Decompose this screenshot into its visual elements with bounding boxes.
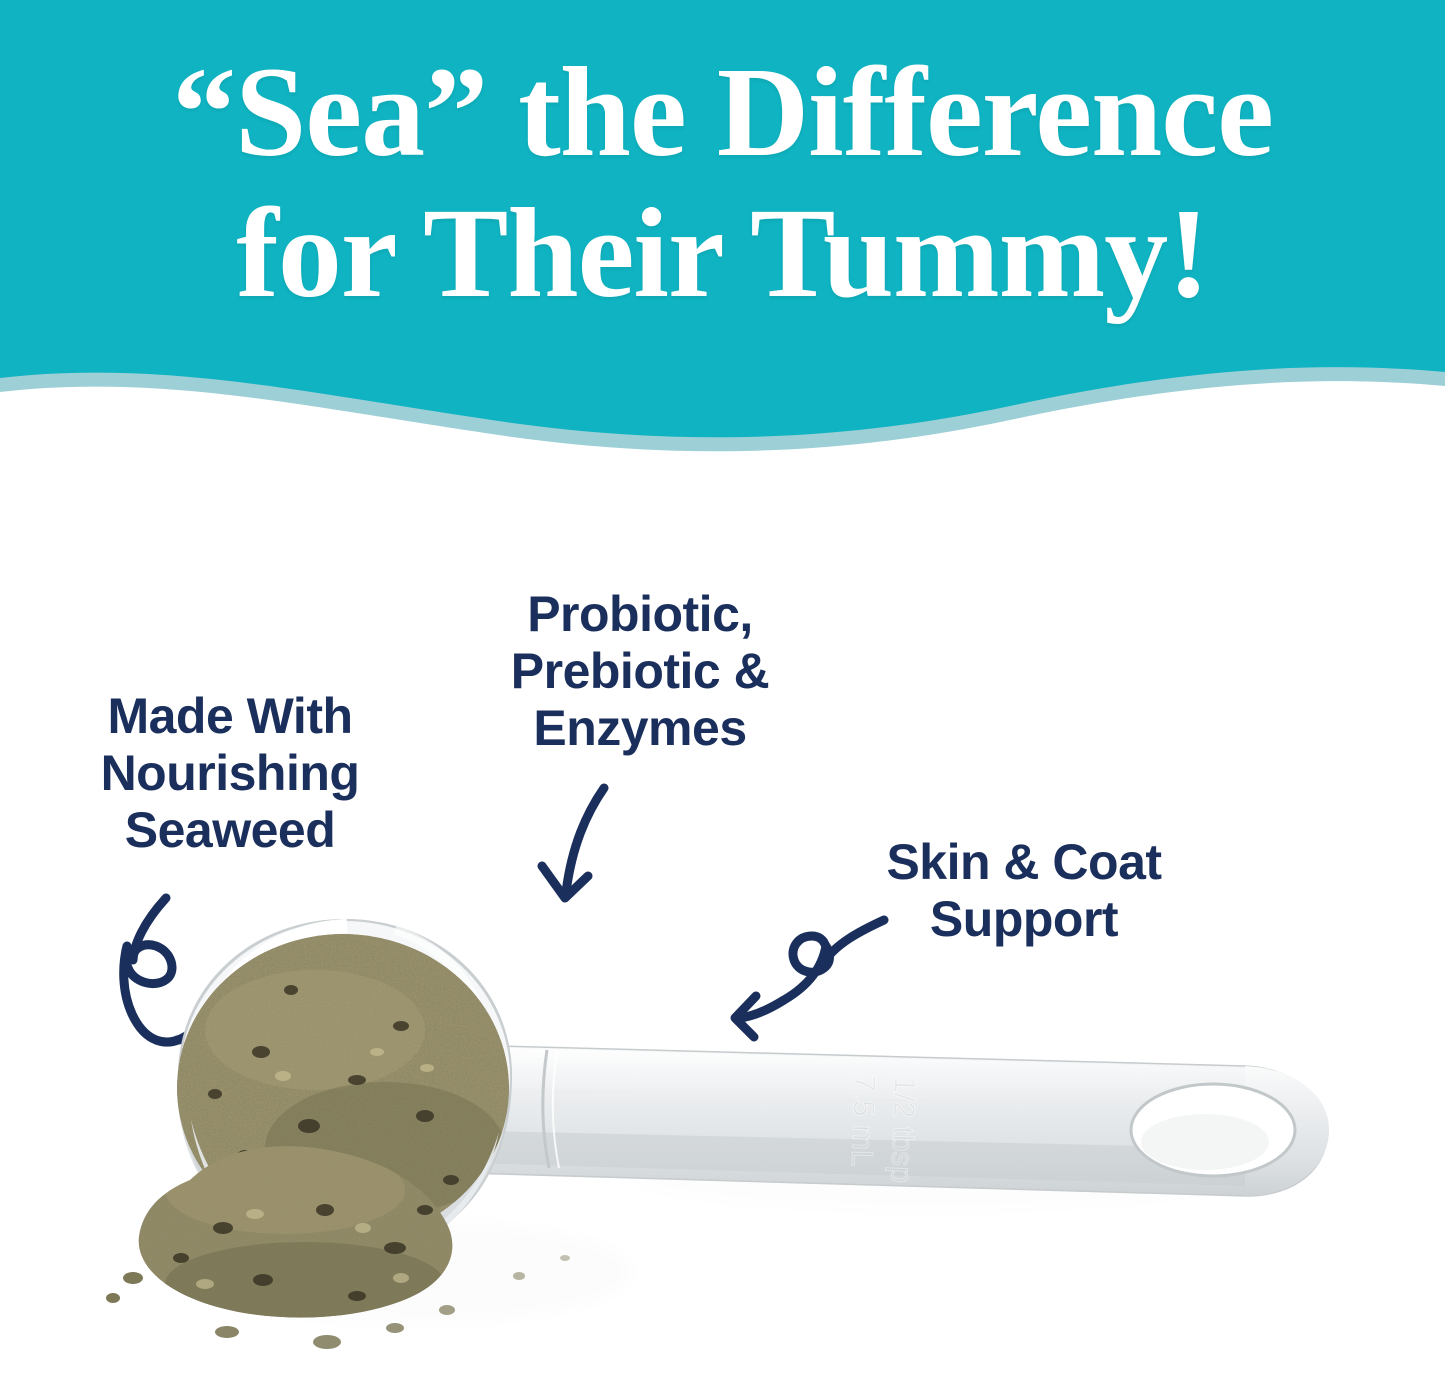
svg-text:1/2 tbsp: 1/2 tbsp <box>884 1076 921 1184</box>
marketing-infographic: “Sea” the Difference for Their Tummy! Ma… <box>0 0 1445 1396</box>
benefit-label-probiotic: Probiotic, Prebiotic & Enzymes <box>452 586 828 757</box>
product-photo-measuring-spoon: 1/2 tbsp 7.5 mL <box>95 880 1395 1396</box>
benefit-label-seaweed-line-2: Nourishing <box>55 745 405 802</box>
page-title-line-1: “Sea” the Difference <box>0 42 1445 183</box>
benefit-label-probiotic-line-3: Enzymes <box>452 700 828 757</box>
svg-text:7.5 mL: 7.5 mL <box>845 1074 881 1167</box>
benefit-label-probiotic-line-2: Prebiotic & <box>452 643 828 700</box>
measuring-spoon-illustration: 1/2 tbsp 7.5 mL <box>95 880 1395 1396</box>
benefit-label-probiotic-line-1: Probiotic, <box>452 586 828 643</box>
page-title: “Sea” the Difference for Their Tummy! <box>0 42 1445 324</box>
header-band: “Sea” the Difference for Their Tummy! <box>0 0 1445 470</box>
benefit-label-seaweed-line-3: Seaweed <box>55 802 405 859</box>
benefit-label-seaweed-line-1: Made With <box>55 688 405 745</box>
spoon-handle: 1/2 tbsp 7.5 mL <box>401 1044 1329 1196</box>
page-title-line-2: for Their Tummy! <box>0 183 1445 324</box>
benefit-label-seaweed: Made With Nourishing Seaweed <box>55 688 405 859</box>
